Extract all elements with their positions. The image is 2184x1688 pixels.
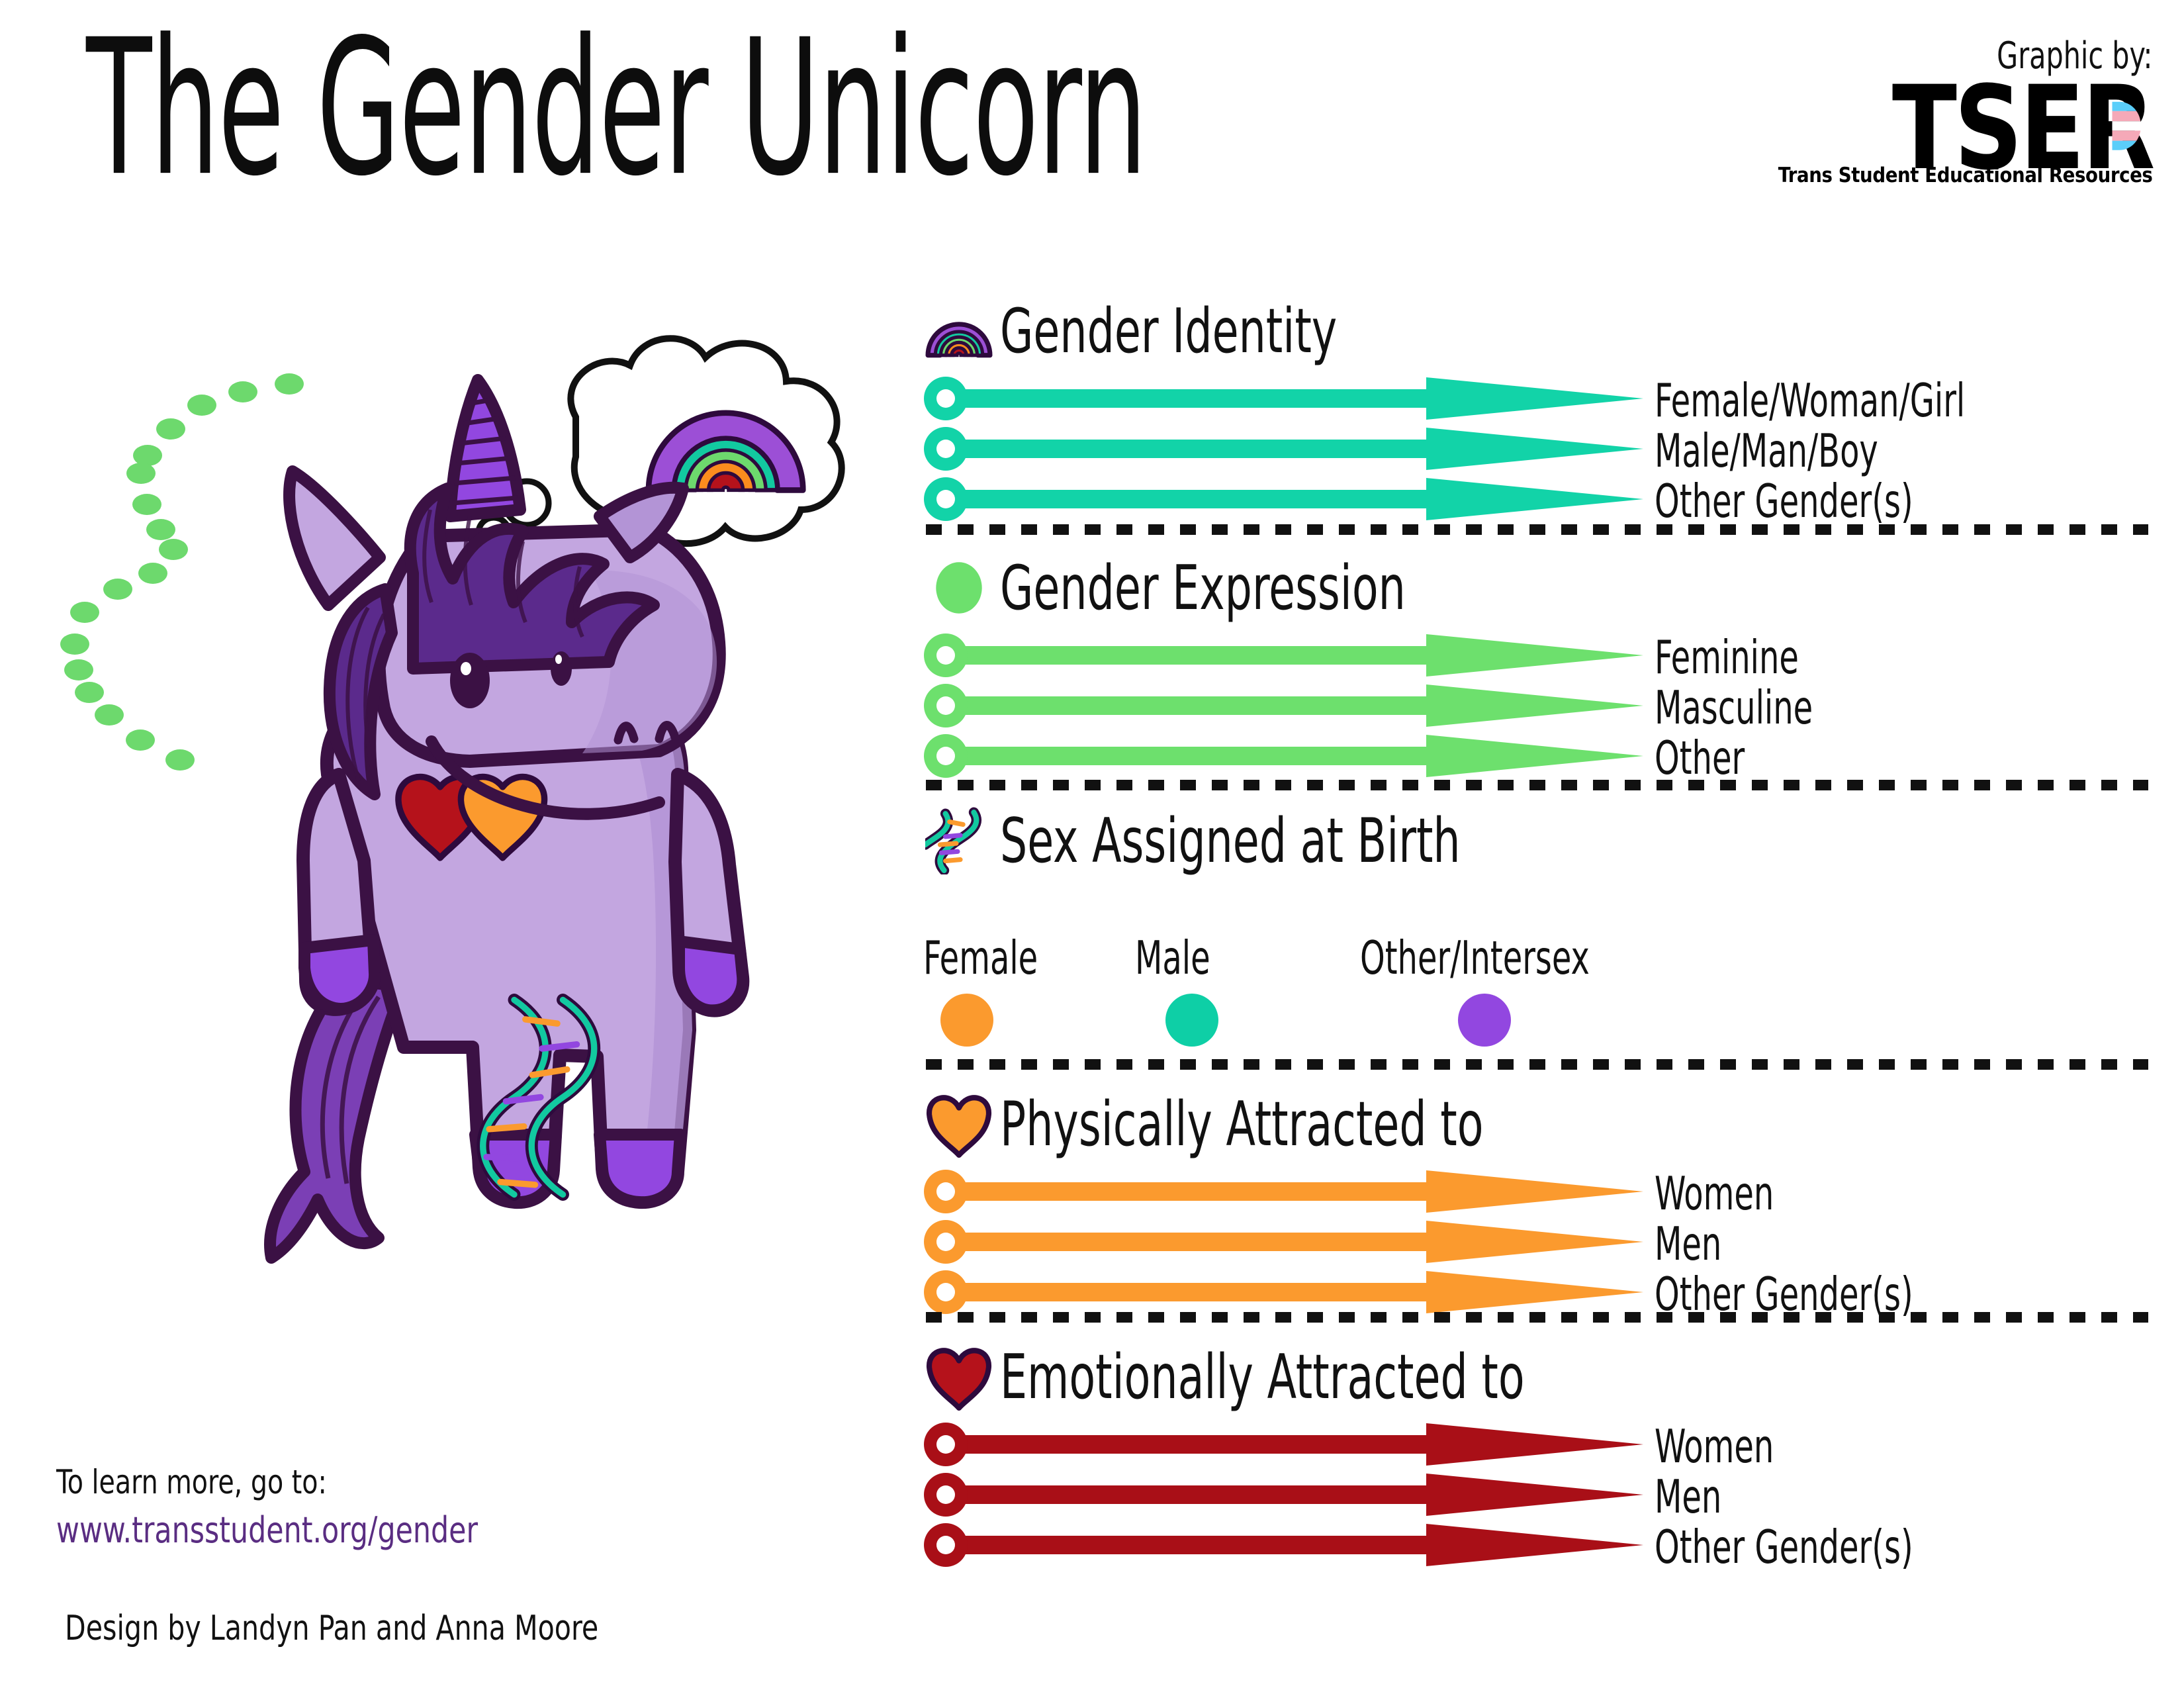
- sab-option[interactable]: Female: [923, 931, 1056, 1047]
- sections-panel: Gender IdentityFemale/Woman/GirlMale/Man…: [923, 291, 2161, 1655]
- section-header: Gender Expression: [923, 548, 1472, 628]
- spectrum-label: Women: [1655, 1166, 1774, 1221]
- section-title: Gender Identity: [1000, 295, 1337, 367]
- section-header: Sex Assigned at Birth: [923, 801, 1535, 880]
- spectrum-label: Feminine: [1655, 630, 1799, 684]
- green-circle-icon: [925, 554, 993, 622]
- unicorn-right-leg-cuff: [600, 1135, 680, 1202]
- sab-option-dot: [1458, 994, 1511, 1047]
- section-header: Gender Identity: [923, 291, 1392, 371]
- rainbow-icon: [925, 297, 993, 365]
- spectrum-arrow: [923, 1270, 1645, 1315]
- section-header: Emotionally Attracted to: [923, 1337, 1610, 1417]
- orange-heart-icon: [923, 1088, 995, 1160]
- tser-logo-wordmark: TSER: [1892, 81, 2152, 175]
- sex-assigned-options: FemaleMaleOther/Intersex: [923, 931, 1717, 1063]
- tser-org-fullname: Trans Student Educational Resources: [1778, 164, 2152, 187]
- rainbow-icon: [923, 295, 995, 367]
- dna-icon: [923, 805, 995, 876]
- spectrum-label: Men: [1655, 1217, 1721, 1271]
- sab-option-dot: [1165, 994, 1218, 1047]
- spectrum-label: Other Gender(s): [1655, 474, 1913, 528]
- spectrum-arrow: [923, 376, 1645, 421]
- unicorn-right-eye: [551, 651, 572, 686]
- poster-canvas: The Gender Unicorn Graphic by: TSER Tran…: [0, 0, 2184, 1688]
- orange-heart-icon: [925, 1090, 993, 1158]
- spectrum-arrow: [923, 633, 1645, 678]
- green-circle-icon: [923, 552, 995, 624]
- unicorn-left-ear: [289, 471, 380, 605]
- section-divider: [923, 780, 2151, 790]
- spectrum-label: Masculine: [1655, 680, 1813, 735]
- sab-option-label: Other/Intersex: [1360, 931, 1590, 985]
- design-credit: Design by Landyn Pan and Anna Moore: [65, 1609, 598, 1648]
- unicorn-left-eye: [450, 653, 490, 708]
- spectrum-arrow: [923, 426, 1645, 471]
- gender-unicorn-illustration: [185, 311, 927, 1383]
- website-url[interactable]: www.transstudent.org/gender: [56, 1509, 478, 1551]
- unicorn-left-cuff: [304, 940, 375, 1009]
- red-heart-icon: [923, 1341, 995, 1413]
- spectrum-label: Men: [1655, 1470, 1721, 1524]
- learn-more-label: To learn more, go to:: [56, 1463, 327, 1501]
- spectrum-label: Women: [1655, 1419, 1774, 1474]
- spectrum-arrow: [923, 1472, 1645, 1517]
- unicorn-tail: [270, 980, 404, 1258]
- section-divider: [923, 1059, 2151, 1070]
- section-header: Physically Attracted to: [923, 1084, 1562, 1164]
- spectrum-arrow: [923, 1219, 1645, 1264]
- section-title: Physically Attracted to: [1000, 1088, 1483, 1160]
- spectrum-arrow: [923, 1169, 1645, 1214]
- tser-credit-block: Graphic by: TSER Trans Student Education…: [1774, 34, 2152, 187]
- sab-option[interactable]: Male: [1135, 931, 1222, 1047]
- dna-icon: [925, 807, 993, 874]
- spectrum-arrow: [923, 733, 1645, 778]
- sab-option-label: Male: [1135, 931, 1210, 985]
- red-heart-icon: [925, 1343, 993, 1411]
- section-divider: [923, 1312, 2151, 1323]
- spectrum-arrow: [923, 683, 1645, 728]
- spectrum-label: Other: [1655, 731, 1745, 785]
- spectrum-arrow: [923, 1422, 1645, 1467]
- spectrum-label: Female/Woman/Girl: [1655, 373, 1965, 428]
- sab-option[interactable]: Other/Intersex: [1360, 931, 1627, 1047]
- section-title: Sex Assigned at Birth: [1000, 805, 1461, 876]
- sab-option-label: Female: [923, 931, 1038, 985]
- spectrum-arrow: [923, 477, 1645, 522]
- spectrum-label: Other Gender(s): [1655, 1520, 1913, 1574]
- sab-option-dot: [940, 994, 993, 1047]
- section-title: Emotionally Attracted to: [1000, 1341, 1525, 1413]
- spectrum-arrow: [923, 1523, 1645, 1568]
- section-divider: [923, 524, 2151, 535]
- section-title: Gender Expression: [1000, 552, 1406, 624]
- spectrum-label: Male/Man/Boy: [1655, 424, 1878, 478]
- unicorn-right-cuff: [679, 941, 743, 1010]
